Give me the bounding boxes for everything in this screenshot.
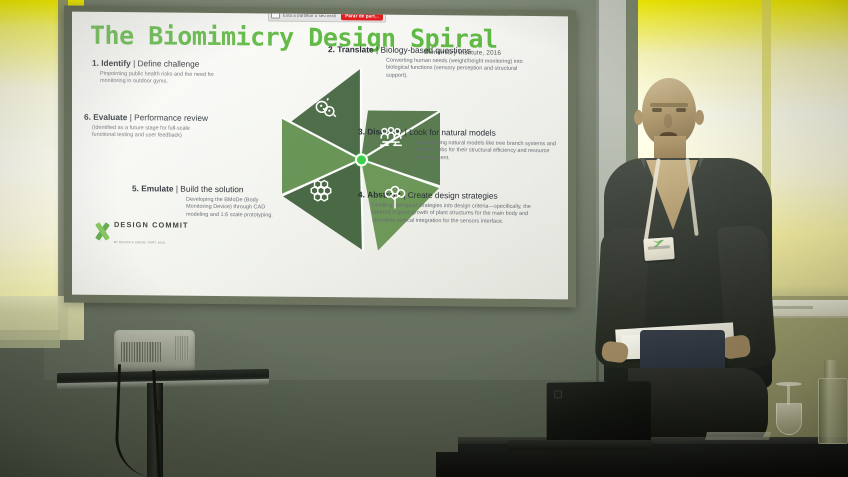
step-1-heading: 1. Identify | Define challenge (92, 59, 252, 70)
step-1-body: Pinpointing public health risks and the … (100, 71, 224, 87)
desk-front-panel (436, 452, 848, 477)
presenter-eye-left (652, 108, 662, 112)
presenter-ear-left (634, 110, 643, 125)
presenter-hand-left (601, 340, 630, 363)
logo-tagline: BY DESIGN & SOUND, PORT. 2024 (114, 241, 165, 244)
share-status-text: Está a partilhar o seu ecrã (283, 12, 338, 18)
desk-papers (705, 432, 771, 440)
wine-glass-stem (787, 385, 790, 405)
laptop-keyboard-base[interactable] (508, 440, 653, 450)
window-left-ledge (0, 330, 60, 348)
step-5-heading: 5. Emulate | Build the solution (132, 184, 302, 195)
honeycomb-icon (308, 178, 334, 204)
step-3-body: Researching natural models like tree bra… (416, 140, 568, 164)
laptop-screen[interactable] (547, 381, 651, 449)
step-1-block: 1. Identify | Define challenge Pinpointi… (92, 59, 252, 87)
people-group-icon (378, 125, 404, 151)
wine-glass-foot (776, 382, 802, 386)
badge-logo-icon (652, 240, 664, 248)
stop-sharing-button[interactable]: Parar de part... (341, 12, 383, 20)
step-2-block: 2. Translate | Biology-based questions C… (328, 45, 548, 81)
bottle (818, 378, 848, 444)
step-2-body: Converting human needs (weight/height mo… (386, 57, 536, 81)
step-5-body: Developing the BMoDe (Body Monitoring De… (186, 196, 284, 220)
wine-glass-bowl (776, 403, 802, 435)
step-2-heading: 2. Translate | Biology-based questions (328, 45, 548, 56)
spiral-center-hub (355, 153, 368, 166)
screen-share-bar[interactable]: Está a partilhar o seu ecrã Parar de par… (268, 12, 386, 23)
presenter-eye-right (676, 108, 686, 112)
screenshot-scene: Está a partilhar o seu ecrã Parar de par… (0, 0, 848, 477)
presenter-ear-right (695, 110, 704, 125)
name-badge (643, 237, 674, 261)
logo-name: DESIGN COMMIT (114, 220, 189, 230)
monitor-icon (271, 12, 280, 19)
slide: The Biomimicry Design Spiral Biomimicry … (72, 12, 568, 300)
design-commit-logo: DESIGN COMMIT BY DESIGN & SOUND, PORT. 2… (94, 215, 189, 248)
step-6-body: (Identified as a future stage for full-s… (92, 124, 204, 140)
wine-glass (774, 385, 804, 437)
projection-screen-frame: Está a partilhar o seu ecrã Parar de par… (64, 6, 576, 308)
presenter-nose (664, 114, 672, 128)
cable-ferrite-block (156, 410, 163, 424)
step-6-heading: 6. Evaluate | Performance review (84, 113, 264, 124)
projection-screen: Está a partilhar o seu ecrã Parar de par… (72, 12, 568, 300)
step-6-block: 6. Evaluate | Performance review (Identi… (84, 113, 264, 142)
laptop-logo-icon (554, 390, 562, 398)
tree-icon (382, 185, 408, 211)
logo-x-icon (94, 222, 111, 239)
presenter-brow (650, 103, 688, 107)
microbe-icon (312, 96, 338, 122)
